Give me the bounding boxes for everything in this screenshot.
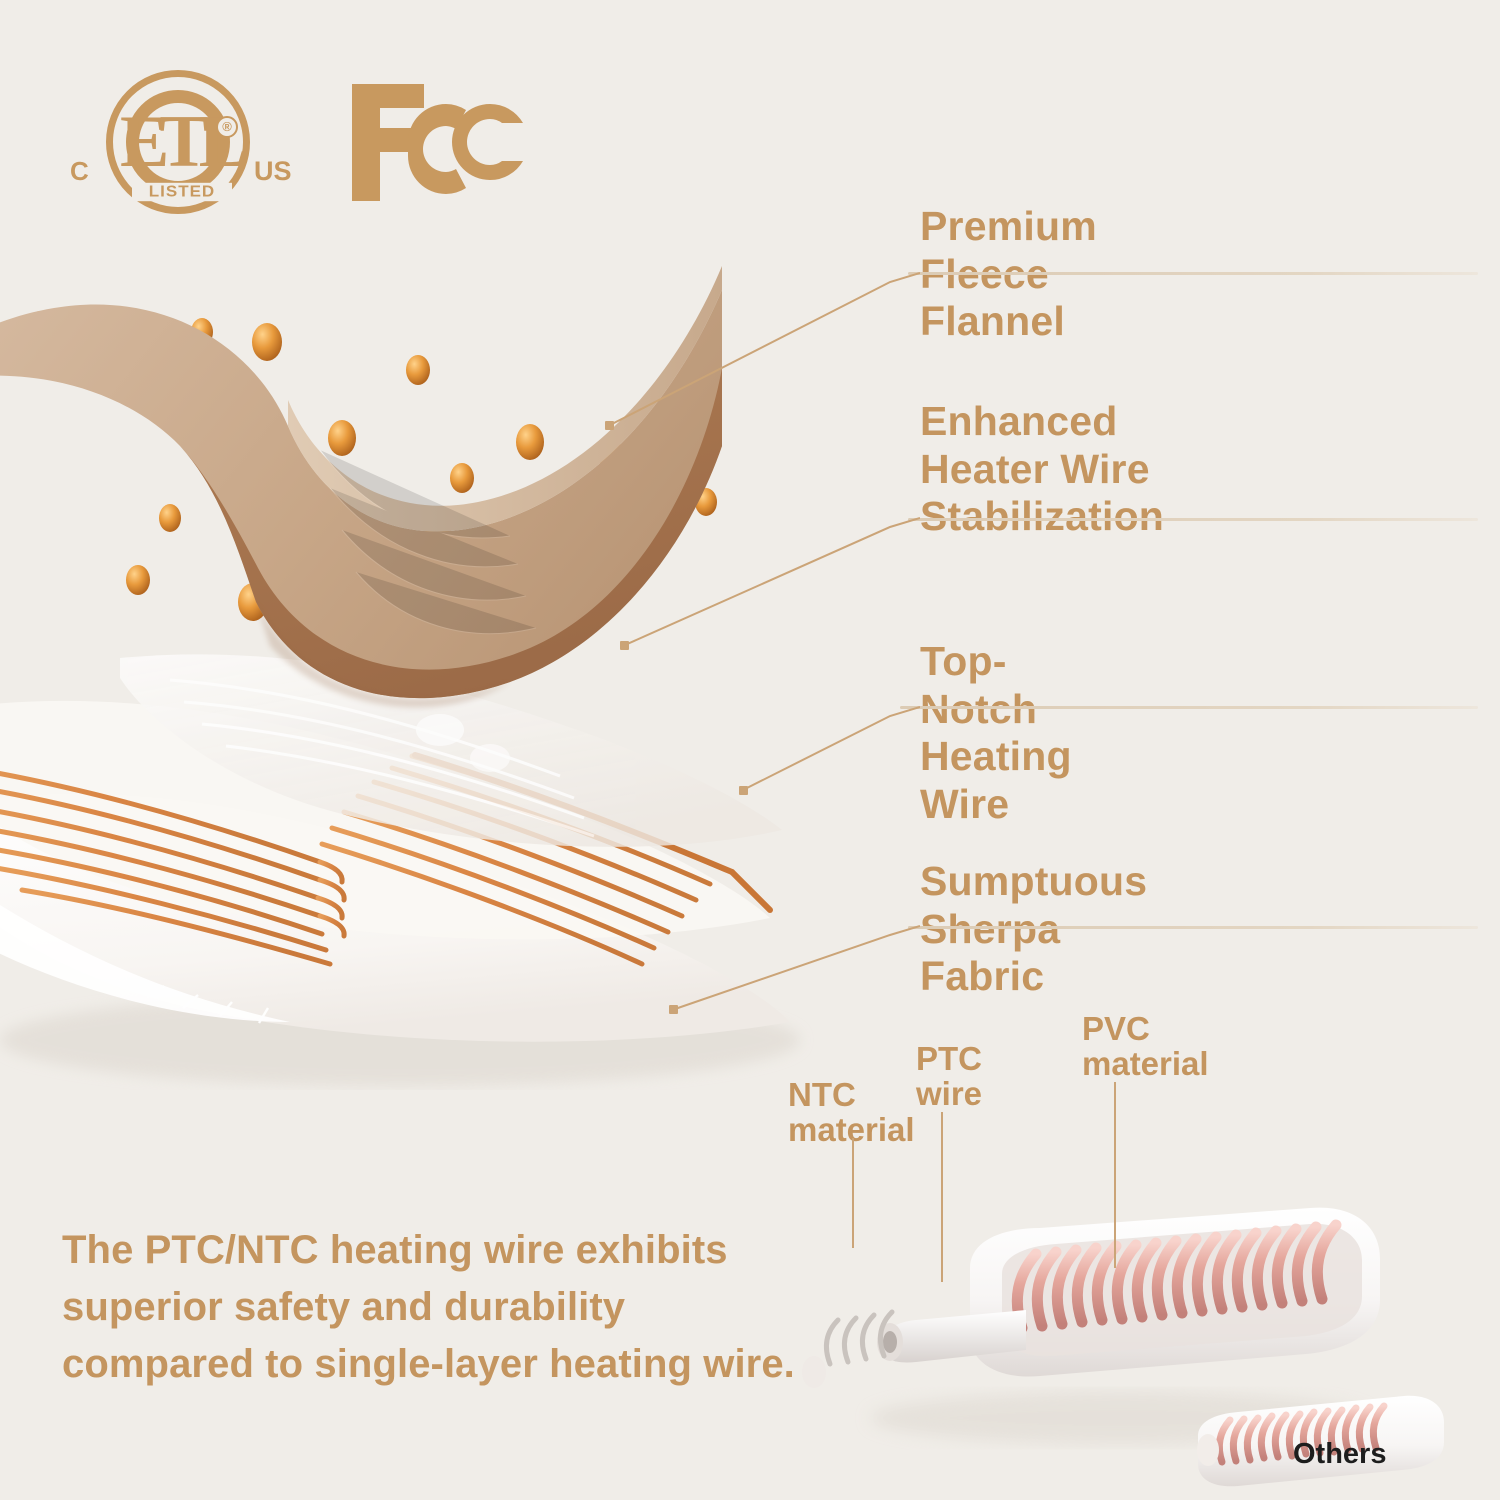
fcc-icon xyxy=(348,80,538,205)
callout-anchor-dot-3 xyxy=(739,786,748,795)
wire-stem-pvc xyxy=(1114,1082,1116,1268)
callout-anchor-dot-4 xyxy=(669,1005,678,1014)
wire-stem-ptc xyxy=(941,1112,943,1282)
etl-monogram: ETL xyxy=(120,92,238,192)
callout-label-sumptuous-sherpa-fabric: Sumptuous Sherpa Fabric xyxy=(920,858,1147,1001)
product-layer-stack xyxy=(0,250,930,1090)
etl-listed-icon: ETL ® C US LISTED xyxy=(70,62,290,222)
wire-label-pvc-material: PVC material xyxy=(1082,1012,1209,1081)
callout-anchor-dot-1 xyxy=(605,421,614,430)
callout-rule-3 xyxy=(900,706,1478,709)
etl-c-mark: C xyxy=(70,156,89,187)
callout-anchor-dot-2 xyxy=(620,641,629,650)
etl-us-mark: US xyxy=(254,156,292,187)
infographic-canvas: ETL ® C US LISTED xyxy=(0,0,1500,1500)
callout-rule-1 xyxy=(908,272,1478,275)
wire-stem-ntc xyxy=(852,1138,854,1248)
wire-label-ntc-material: NTC material xyxy=(788,1078,915,1147)
body-paragraph: The PTC/NTC heating wire exhibits superi… xyxy=(62,1222,822,1392)
callout-rule-2 xyxy=(908,518,1478,521)
certification-badges: ETL ® C US LISTED xyxy=(70,62,538,222)
callout-rule-4 xyxy=(908,926,1478,929)
etl-registered-icon: ® xyxy=(216,116,238,138)
etl-listed-text: LISTED xyxy=(132,183,232,201)
wire-main-specimen xyxy=(802,1208,1380,1388)
callout-label-top-notch-heating-wire: Top-Notch Heating Wire xyxy=(920,638,1072,828)
fleece-flannel-layer xyxy=(0,266,722,707)
others-label: Others xyxy=(1293,1438,1386,1471)
wire-label-ptc-wire: PTC wire xyxy=(916,1042,982,1111)
